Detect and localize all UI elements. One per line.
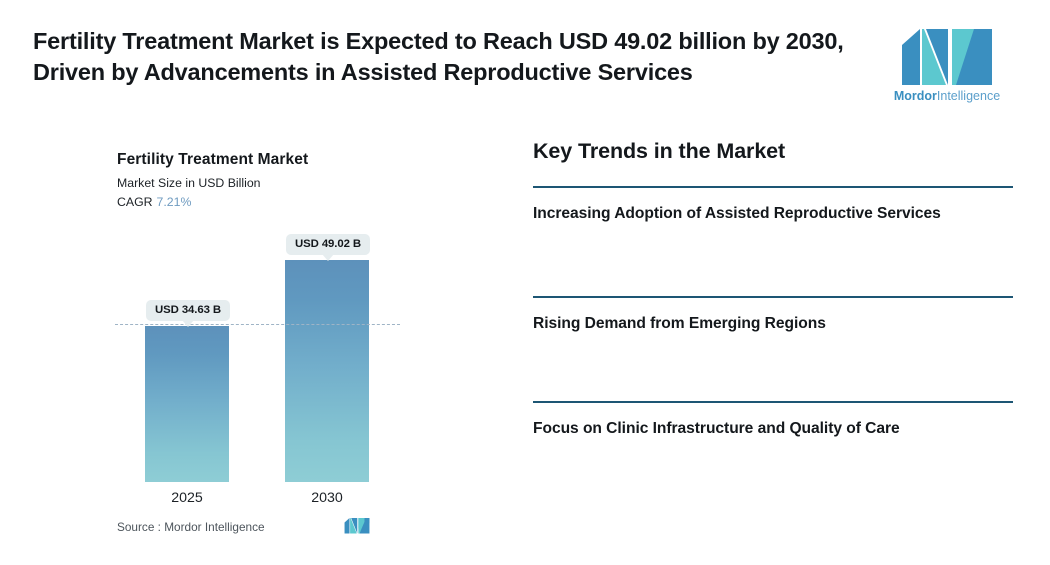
source-row: Source : Mordor Intelligence xyxy=(117,517,387,541)
reference-dashed-line xyxy=(115,324,400,325)
mordor-intelligence-logo-mark xyxy=(900,27,994,85)
value-label-2030: USD 49.02 B xyxy=(286,234,370,255)
trend-item-1[interactable]: Rising Demand from Emerging Regions xyxy=(533,296,1013,401)
brand-word-bold: Mordor xyxy=(894,89,937,103)
key-trends-panel: Key Trends in the Market Increasing Adop… xyxy=(533,140,1013,479)
trend-item-2-text: Focus on Clinic Infrastructure and Quali… xyxy=(533,418,1013,440)
bar-2025[interactable] xyxy=(145,326,229,482)
bar-chart-plot: USD 34.63 B USD 49.02 B 2025 2030 xyxy=(0,118,500,518)
bars-container xyxy=(0,118,500,482)
key-trends-heading: Key Trends in the Market xyxy=(533,140,1013,164)
page-header: Fertility Treatment Market is Expected t… xyxy=(0,0,1050,118)
source-label: Source : Mordor Intelligence xyxy=(117,520,265,534)
bar-2030[interactable] xyxy=(285,260,369,482)
page-title: Fertility Treatment Market is Expected t… xyxy=(33,26,863,89)
x-axis-label-2025: 2025 xyxy=(145,490,229,506)
trend-item-0-text: Increasing Adoption of Assisted Reproduc… xyxy=(533,203,1013,225)
brand-logo: MordorIntelligence xyxy=(888,27,1006,103)
brand-wordmark: MordorIntelligence xyxy=(888,89,1006,103)
mordor-intelligence-mark-icon xyxy=(344,517,370,534)
brand-word-light: Intelligence xyxy=(937,89,1000,103)
trend-item-2[interactable]: Focus on Clinic Infrastructure and Quali… xyxy=(533,401,1013,479)
trend-item-1-text: Rising Demand from Emerging Regions xyxy=(533,313,1013,335)
trend-item-0[interactable]: Increasing Adoption of Assisted Reproduc… xyxy=(533,186,1013,296)
chart-panel: Fertility Treatment Market Market Size i… xyxy=(0,118,500,565)
x-axis-label-2030: 2030 xyxy=(285,490,369,506)
value-label-2025: USD 34.63 B xyxy=(146,300,230,321)
